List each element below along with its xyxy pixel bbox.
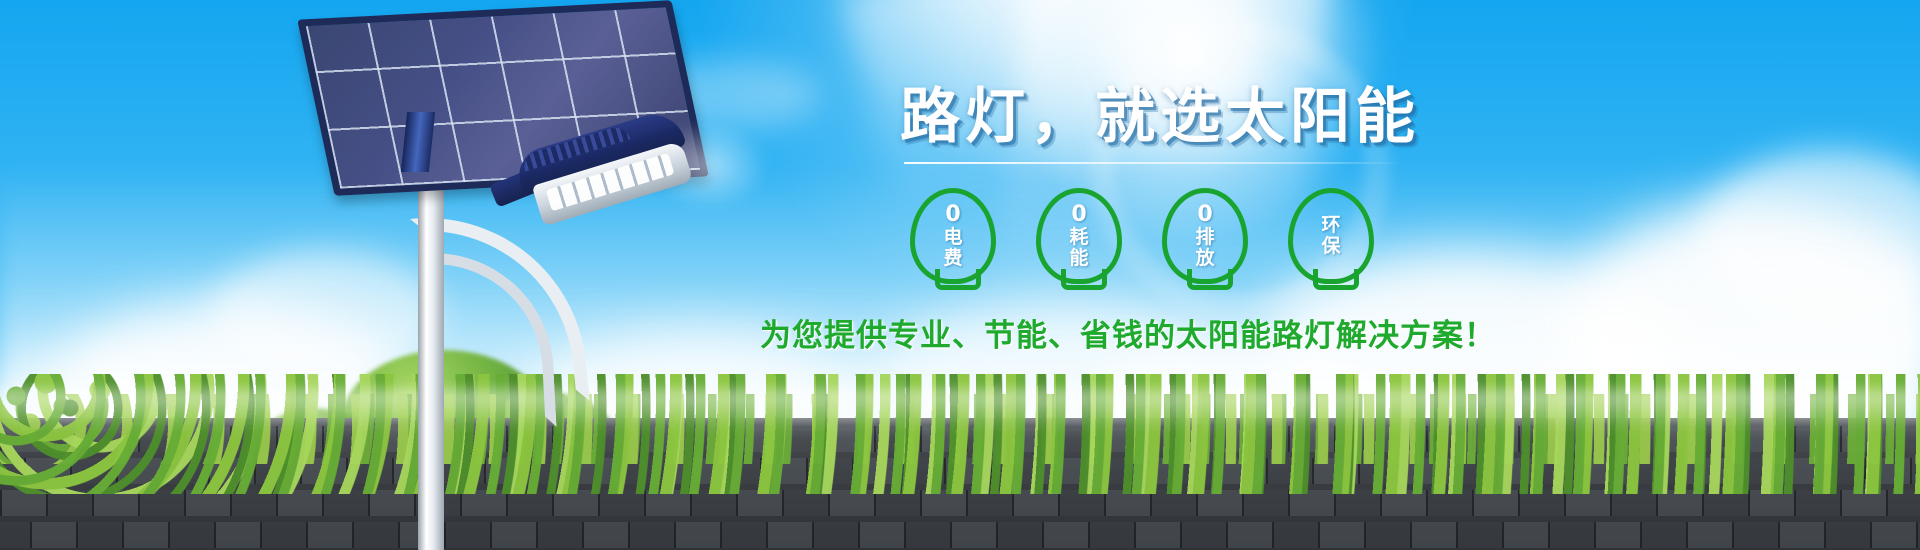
badge-char-1: 电 [943, 228, 962, 247]
badge-char-1: 排 [1195, 228, 1214, 247]
feature-badge-label: 0 排 放 [1162, 188, 1248, 284]
ivy-haze [0, 390, 1920, 430]
page-title: 路灯，就选太阳能 [900, 86, 1520, 149]
badge-zero-value: 0 [945, 204, 960, 226]
feature-badge-list: 0 电 费 0 耗 能 0 排 放 [910, 188, 1520, 284]
badge-char-1: 耗 [1069, 228, 1088, 247]
lamp-post [418, 148, 444, 550]
feature-badge-label: 0 电 费 [910, 188, 996, 284]
feature-badge-dianfei: 0 电 费 [910, 188, 996, 284]
feature-badge-huanbao: 环 保 [1288, 188, 1374, 284]
badge-zero-value: 0 [1071, 204, 1086, 226]
banner-text-block: 路灯，就选太阳能 0 电 费 0 耗 能 [900, 86, 1520, 355]
solar-lamp-banner: 路灯，就选太阳能 0 电 费 0 耗 能 [0, 0, 1920, 550]
feature-badge-haoneng: 0 耗 能 [1036, 188, 1122, 284]
badge-char-2: 保 [1321, 237, 1340, 256]
badge-char-2: 费 [943, 249, 962, 268]
tile-row [0, 522, 1920, 548]
feature-badge-paifang: 0 排 放 [1162, 188, 1248, 284]
feature-badge-label: 0 耗 能 [1036, 188, 1122, 284]
banner-tagline: 为您提供专业、节能、省钱的太阳能路灯解决方案！ [760, 310, 1520, 355]
badge-char-2: 能 [1069, 249, 1088, 268]
title-divider [904, 162, 1404, 164]
feature-badge-label: 环 保 [1288, 188, 1374, 284]
badge-char-2: 放 [1195, 249, 1214, 268]
badge-char-1: 环 [1321, 216, 1340, 235]
badge-zero-value: 0 [1197, 204, 1212, 226]
